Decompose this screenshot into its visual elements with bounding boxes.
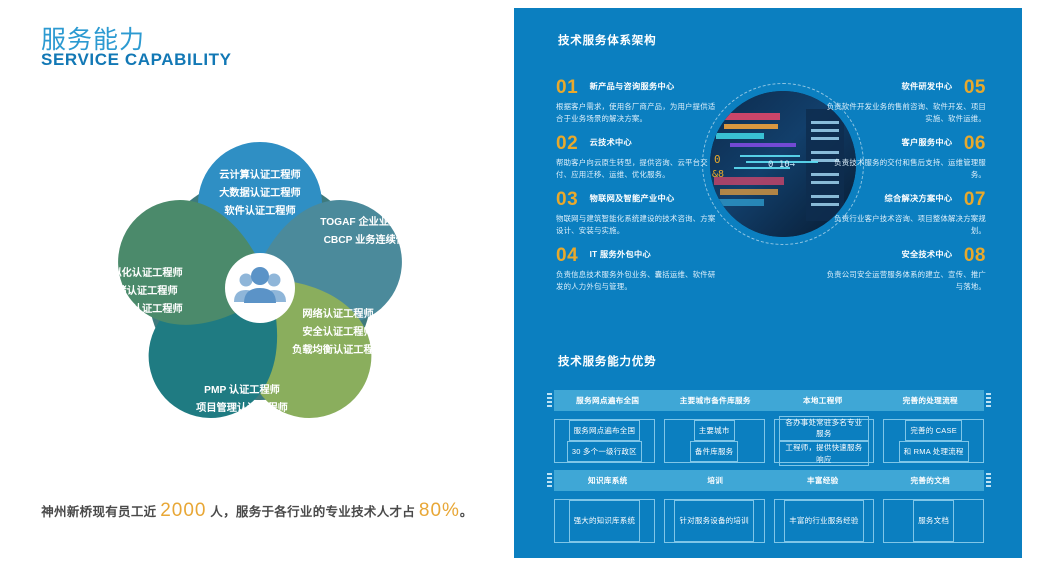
petal-togaf-line-1: CBCP 业务连续性专家: [324, 233, 428, 246]
adv1-header-2: 本地工程师: [769, 395, 877, 406]
adv2-header-2: 丰富经验: [769, 475, 877, 486]
arch-item-03-name: 物联网及智能产业中心: [590, 195, 675, 203]
advantages-section-title: 技术服务能力优势: [558, 353, 656, 369]
arch-item-02-name: 云技术中心: [590, 139, 632, 147]
adv2-header-0: 知识库系统: [554, 475, 662, 486]
arch-item-06[interactable]: 客户服务中心 06 负责技术服务的交付和售后支持、运维管理服务。: [826, 134, 986, 181]
page-title-en: SERVICE CAPABILITY: [41, 50, 232, 70]
petal-virt-line-1: 存储认证工程师: [106, 284, 177, 297]
advantages-table-1-header-row: 服务网点遍布全国 主要城市备件库服务 本地工程师 完善的处理流程: [554, 390, 984, 411]
caption-part-2: 人，服务于各行业的专业技术人才占: [210, 505, 415, 519]
arch-item-04-number: 04: [556, 246, 578, 265]
petal-cloud-line-1: 大数据认证工程师: [219, 186, 301, 199]
adv1-cell-1[interactable]: 主要城市备件库服务: [664, 419, 765, 463]
adv1-cell-2[interactable]: 各办事处常驻多名专业服务工程师，提供快速服务响应: [774, 419, 875, 463]
arch-item-01-name: 新产品与咨询服务中心: [590, 83, 675, 91]
arch-item-04-name: IT 服务外包中心: [590, 251, 651, 259]
service-capability-section: 服务能力 SERVICE CAPABILITY 云计算认证工程师 大数据认证工程…: [0, 0, 514, 576]
advantages-table-1-cells-row: 服务网点遍布全国30 多个一级行政区 主要城市备件库服务 各办事处常驻多名专业服…: [554, 419, 984, 463]
adv2-header-1: 培训: [662, 475, 770, 486]
arch-item-08-desc: 负责公司安全运营服务体系的建立、宣传、推广与落地。: [826, 269, 986, 293]
arch-item-04[interactable]: 04 IT 服务外包中心 负责信息技术服务外包业务、囊括运维、软件研发的人力外包…: [556, 246, 716, 293]
petal-network-line-0: 网络认证工程师: [302, 307, 373, 320]
petal-pmp-line-1: 项目管理认证工程师: [196, 401, 288, 414]
petal-togaf-line-0: TOGAF 企业业务架构师: [320, 215, 430, 228]
petal-diagram: 云计算认证工程师 大数据认证工程师 软件认证工程师 TOGAF 企业业务架构师 …: [20, 88, 500, 488]
petal-network-line-2: 负载均衡认证工程师: [292, 343, 384, 356]
petal-cloud-line-0: 云计算认证工程师: [219, 168, 301, 181]
caption-part-1: 神州新桥现有员工近: [41, 505, 156, 519]
arch-item-03[interactable]: 03 物联网及智能产业中心 物联网与建筑智能化系统建设的技术咨询、方案设计、安装…: [556, 190, 716, 237]
petal-cloud-line-2: 软件认证工程师: [224, 204, 295, 217]
arch-item-02-number: 02: [556, 134, 578, 153]
arch-item-01-number: 01: [556, 78, 578, 97]
advantages-table-2-cells-row: 强大的知识库系统 针对服务设备的培训 丰富的行业服务经验 服务文档: [554, 499, 984, 543]
arch-item-05-desc: 负责软件开发业务的售前咨询、软件开发、项目实施、软件运维。: [826, 101, 986, 125]
adv1-cell-0[interactable]: 服务网点遍布全国30 多个一级行政区: [554, 419, 655, 463]
adv2-cell-3[interactable]: 服务文档: [883, 499, 984, 543]
arch-item-05-number: 05: [964, 78, 986, 97]
petal-virt-line-0: 虚拟化认证工程师: [101, 266, 183, 279]
arch-item-06-number: 06: [964, 134, 986, 153]
caption-part-3: 。: [460, 505, 473, 519]
caption-percentage: 80%: [419, 500, 460, 521]
adv2-cell-0[interactable]: 强大的知识库系统: [554, 499, 655, 543]
adv2-cell-1[interactable]: 针对服务设备的培训: [664, 499, 765, 543]
petal-network-line-1: 安全认证工程师: [302, 325, 373, 338]
arch-item-03-number: 03: [556, 190, 578, 209]
petal-pmp-line-2: ITIL 认证工程师: [206, 419, 278, 432]
arch-item-06-desc: 负责技术服务的交付和售后支持、运维管理服务。: [826, 157, 986, 181]
arch-item-03-desc: 物联网与建筑智能化系统建设的技术咨询、方案设计、安装与实施。: [556, 213, 716, 237]
arch-item-02[interactable]: 02 云技术中心 帮助客户向云原生转型，提供咨询、云平台交付、应用迁移、运维、优…: [556, 134, 716, 181]
advantages-table-2-header-row: 知识库系统 培训 丰富经验 完善的文档: [554, 470, 984, 491]
arch-item-07-number: 07: [964, 190, 986, 209]
arch-item-07-desc: 负责行业客户技术咨询、项目整体解决方案规划。: [826, 213, 986, 237]
caption-employee-count: 2000: [160, 500, 206, 521]
adv1-cell-3[interactable]: 完善的 CASE和 RMA 处理流程: [883, 419, 984, 463]
arch-item-07-name: 综合解决方案中心: [885, 195, 953, 203]
adv2-header-3: 完善的文档: [877, 475, 985, 486]
architecture-section-title: 技术服务体系架构: [558, 32, 656, 48]
petal-virt-line-2: 数据库认证工程师: [101, 302, 183, 315]
adv2-cell-2[interactable]: 丰富的行业服务经验: [774, 499, 875, 543]
advantages-table-1: 服务网点遍布全国 主要城市备件库服务 本地工程师 完善的处理流程 服务网点遍布全…: [554, 390, 984, 463]
arch-item-05-name: 软件研发中心: [901, 83, 952, 91]
arch-item-08-number: 08: [964, 246, 986, 265]
arch-item-08[interactable]: 安全技术中心 08 负责公司安全运营服务体系的建立、宣传、推广与落地。: [826, 246, 986, 293]
advantages-table-2: 知识库系统 培训 丰富经验 完善的文档 强大的知识库系统 针对服务设备的培训 丰…: [554, 470, 984, 543]
employee-caption: 神州新桥现有员工近 2000 人，服务于各行业的专业技术人才占 80%。: [0, 500, 514, 522]
adv1-header-0: 服务网点遍布全国: [554, 395, 662, 406]
arch-item-05[interactable]: 软件研发中心 05 负责软件开发业务的售前咨询、软件开发、项目实施、软件运维。: [826, 78, 986, 125]
arch-item-02-desc: 帮助客户向云原生转型，提供咨询、云平台交付、应用迁移、运维、优化服务。: [556, 157, 716, 181]
petal-pmp-line-0: PMP 认证工程师: [204, 383, 280, 396]
arch-item-08-name: 安全技术中心: [901, 251, 952, 259]
adv1-header-1: 主要城市备件库服务: [662, 395, 770, 406]
arch-item-01-desc: 根据客户需求，使用各厂商产品，为用户提供适合于业务场景的解决方案。: [556, 101, 716, 125]
arch-item-01[interactable]: 01 新产品与咨询服务中心 根据客户需求，使用各厂商产品，为用户提供适合于业务场…: [556, 78, 716, 125]
arch-item-06-name: 客户服务中心: [901, 139, 952, 147]
arch-item-07[interactable]: 综合解决方案中心 07 负责行业客户技术咨询、项目整体解决方案规划。: [826, 190, 986, 237]
technical-service-panel: 技术服务体系架构: [514, 8, 1022, 558]
adv1-header-3: 完善的处理流程: [877, 395, 985, 406]
svg-text:0 10→: 0 10→: [768, 160, 796, 170]
arch-item-04-desc: 负责信息技术服务外包业务、囊括运维、软件研发的人力外包与管理。: [556, 269, 716, 293]
